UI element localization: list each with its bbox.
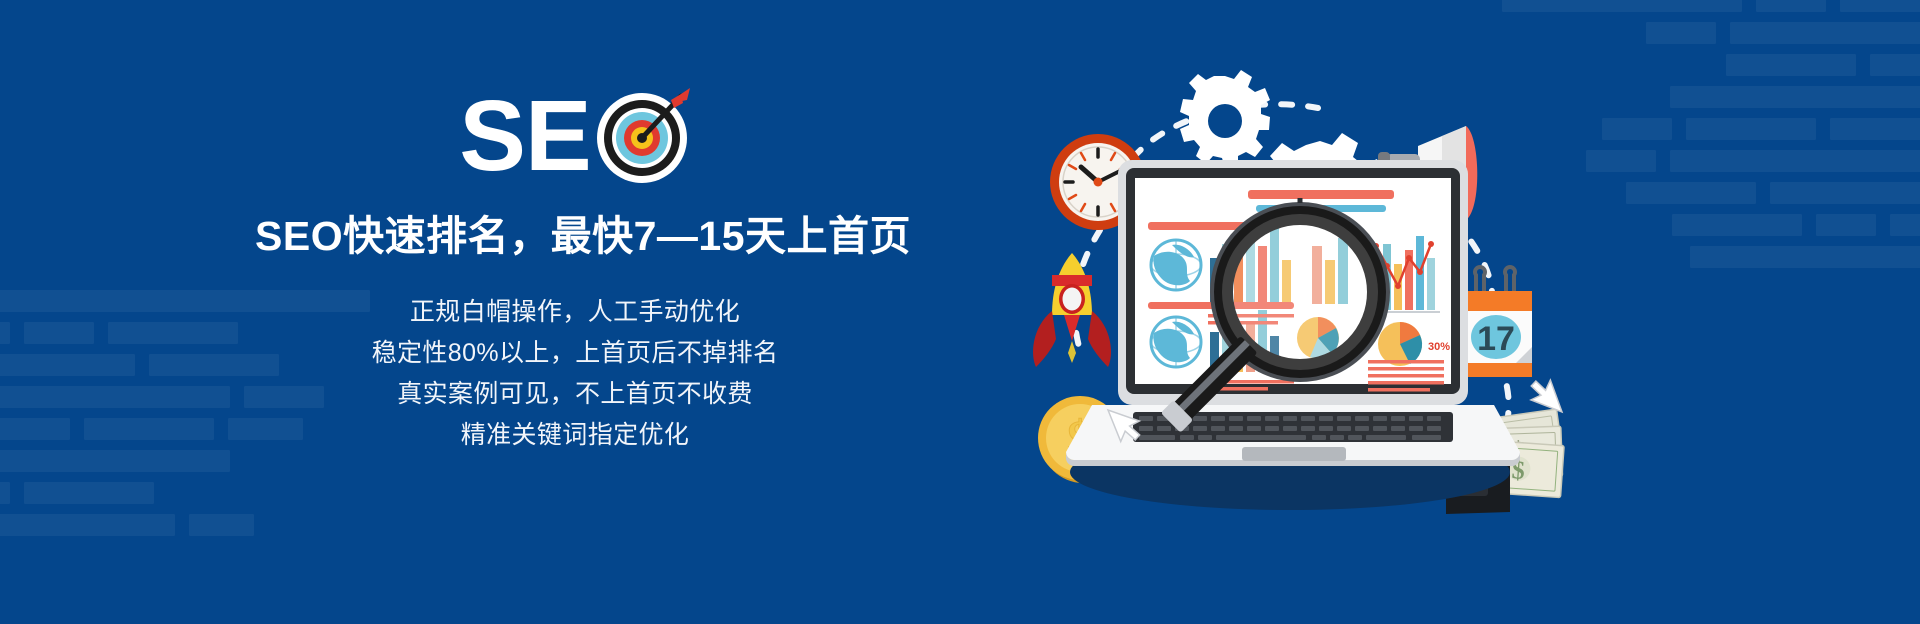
code-deco-block — [1670, 86, 1920, 108]
code-deco-block — [1730, 22, 1920, 44]
code-deco-block — [1502, 0, 1742, 12]
code-deco-block — [1830, 118, 1920, 140]
seo-promo-banner: SE SEO快速排名，最快7—15天上首页 正规白帽操作，人工手动优化 — [0, 0, 1920, 624]
code-deco-block — [0, 354, 135, 376]
code-deco-block — [1770, 182, 1920, 204]
code-deco-block — [24, 482, 154, 504]
seo-illustration: $ — [1000, 60, 1680, 560]
list-item: 稳定性80%以上，上首页后不掉排名 — [255, 333, 895, 374]
code-deco-gap — [70, 418, 84, 440]
calendar-icon: 17 — [1460, 267, 1532, 377]
code-deco-row — [0, 514, 254, 536]
rocket-icon — [1033, 253, 1111, 367]
code-deco-block — [1690, 246, 1920, 268]
code-deco-block — [0, 418, 70, 440]
code-deco-gap — [1826, 0, 1840, 12]
code-deco-block — [1686, 118, 1816, 140]
seo-logo: SE — [255, 88, 895, 184]
code-deco-row — [0, 482, 154, 504]
code-deco-block — [1756, 0, 1826, 12]
code-deco-block — [1890, 214, 1920, 236]
code-deco-block — [189, 514, 254, 536]
code-deco-gap — [1816, 118, 1830, 140]
code-deco-block — [108, 322, 238, 344]
promo-text-column: SE SEO快速排名，最快7—15天上首页 正规白帽操作，人工手动优化 — [255, 88, 895, 456]
code-deco-row — [1726, 54, 1920, 76]
code-deco-gap — [214, 418, 228, 440]
code-deco-row — [0, 450, 230, 472]
code-deco-block — [1726, 54, 1856, 76]
feature-list: 正规白帽操作，人工手动优化 稳定性80%以上，上首页后不掉排名 真实案例可见，不… — [255, 292, 895, 456]
code-deco-gap — [1716, 22, 1730, 44]
code-deco-gap — [1742, 0, 1756, 12]
pie-chart-2 — [1378, 322, 1422, 366]
code-deco-block — [24, 322, 94, 344]
code-deco-block — [0, 386, 230, 408]
code-deco-block — [1646, 22, 1716, 44]
code-deco-row — [1646, 22, 1920, 44]
pie-percent-label: 30% — [1428, 341, 1450, 353]
laptop-trackpad — [1242, 447, 1346, 461]
code-deco-block — [84, 418, 214, 440]
code-deco-gap — [1756, 182, 1770, 204]
code-deco-gap — [135, 354, 149, 376]
page-title: SEO快速排名，最快7—15天上首页 — [255, 210, 895, 262]
code-deco-row — [0, 322, 238, 344]
code-deco-row — [0, 354, 279, 376]
code-deco-gap — [175, 514, 189, 536]
target-dartboard-icon — [593, 86, 691, 189]
code-deco-block — [1870, 54, 1920, 76]
code-deco-gap — [230, 386, 244, 408]
list-item: 精准关键词指定优化 — [255, 415, 895, 456]
code-deco-gap — [10, 322, 24, 344]
code-deco-block — [1816, 214, 1876, 236]
code-deco-gap — [10, 482, 24, 504]
code-deco-block — [0, 322, 10, 344]
seo-logo-letters: SE — [459, 91, 590, 181]
code-deco-block — [1670, 150, 1920, 172]
list-item: 正规白帽操作，人工手动优化 — [255, 292, 895, 333]
list-item: 真实案例可见，不上首页不收费 — [255, 374, 895, 415]
code-deco-block — [1840, 0, 1920, 12]
code-deco-block — [1672, 214, 1802, 236]
code-deco-gap — [94, 322, 108, 344]
code-deco-gap — [1802, 214, 1816, 236]
code-deco-row — [1670, 86, 1920, 108]
code-deco-row — [1690, 246, 1920, 268]
code-deco-gap — [1856, 54, 1870, 76]
code-deco-row — [1502, 0, 1920, 12]
code-deco-block — [0, 450, 230, 472]
code-deco-row — [1672, 214, 1920, 236]
code-deco-block — [0, 482, 10, 504]
calendar-day-label: 17 — [1477, 320, 1515, 358]
code-deco-block — [0, 514, 175, 536]
code-deco-gap — [1876, 214, 1890, 236]
